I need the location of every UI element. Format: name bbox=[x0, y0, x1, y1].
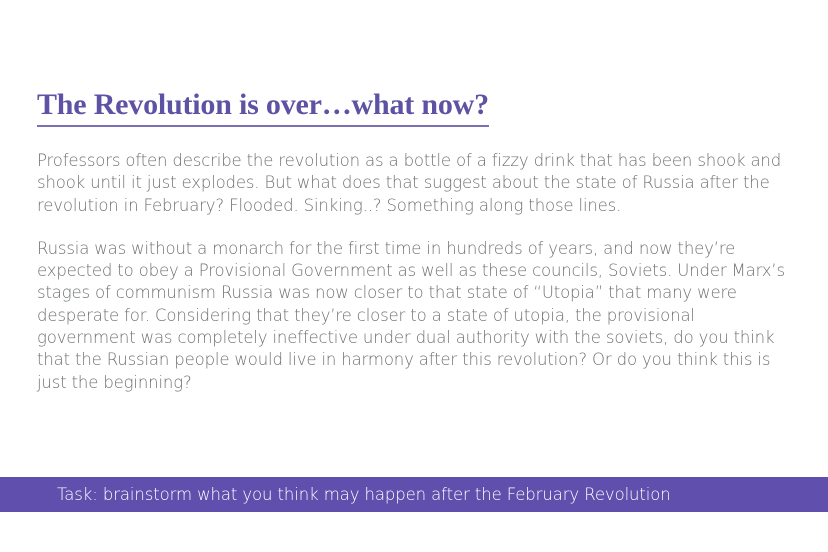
slide-body: Professors often describe the revolution… bbox=[37, 150, 797, 394]
slide-canvas: The Revolution is over…what now? Profess… bbox=[0, 0, 828, 552]
body-paragraph-1: Professors often describe the revolution… bbox=[37, 150, 797, 217]
footer-task-banner: Task: brainstorm what you think may happ… bbox=[0, 477, 828, 512]
footer-task-text: Task: brainstorm what you think may happ… bbox=[0, 485, 671, 505]
body-paragraph-2: Russia was without a monarch for the fir… bbox=[37, 238, 797, 394]
page-title-text: The Revolution is over…what now? bbox=[37, 88, 489, 127]
page-title: The Revolution is over…what now? bbox=[37, 88, 489, 127]
